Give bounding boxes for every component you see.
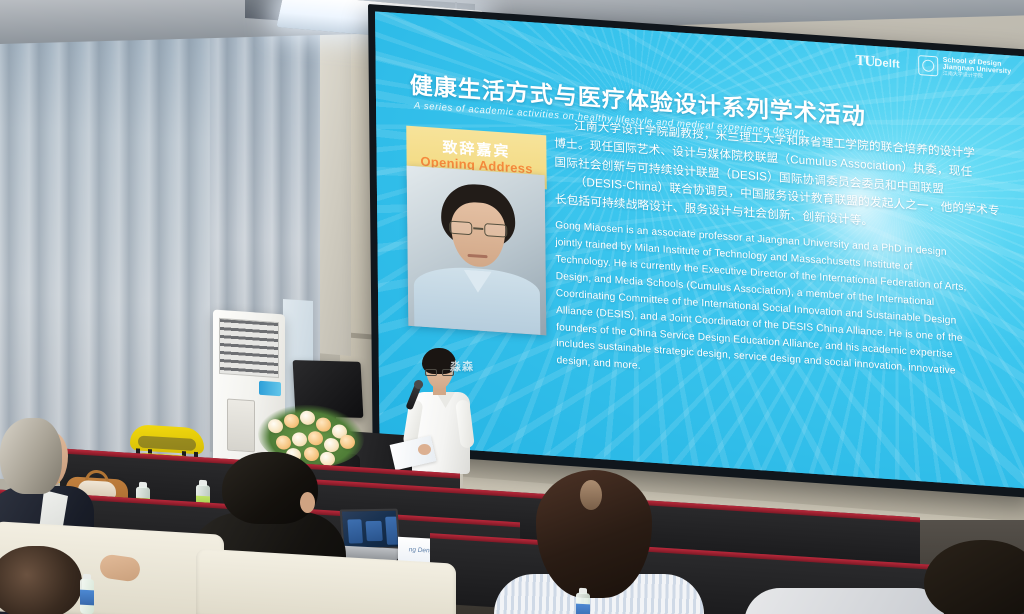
laptop-screen xyxy=(340,509,401,550)
presenter-hand xyxy=(418,444,431,455)
audience-front-left-hair xyxy=(0,546,82,614)
jiangnan-logo-text: School of Design Jiangnan University 江南大… xyxy=(943,57,1012,82)
audience-left-hair xyxy=(0,418,62,494)
chair-seat xyxy=(130,424,204,455)
open-laptop[interactable] xyxy=(337,507,399,562)
tudelft-wordmark: Delft xyxy=(874,56,900,70)
bottle-label xyxy=(576,604,590,614)
ac-control-panel[interactable] xyxy=(227,398,255,452)
jiangnan-emblem-icon xyxy=(918,55,938,76)
slide-name-overlay: 淼森 xyxy=(450,358,474,374)
water-bottle xyxy=(576,588,590,614)
slide-bio-english: Gong Miaosen is an associate professor a… xyxy=(555,218,1015,402)
tudelft-mark: TU xyxy=(855,52,874,70)
speaker-portrait-photo xyxy=(407,166,547,336)
audience-black-shirt-ear xyxy=(300,492,315,513)
audience-center-hair-part xyxy=(580,480,602,510)
audience-right-shoulder xyxy=(744,588,944,614)
slide-logo-group: TU Delft School of Design Jiangnan Unive… xyxy=(855,51,1011,82)
ac-grille xyxy=(219,318,279,378)
bottle-label xyxy=(80,590,94,606)
ac-energy-label xyxy=(259,381,281,397)
tudelft-logo: TU Delft xyxy=(855,52,899,72)
conference-room-photo: TU Delft School of Design Jiangnan Unive… xyxy=(0,0,1024,614)
water-bottle xyxy=(80,574,94,614)
audience-black-shirt-hair xyxy=(222,452,318,524)
portrait-collar xyxy=(464,270,492,294)
jiangnan-university-logo: School of Design Jiangnan University 江南大… xyxy=(918,55,1012,81)
